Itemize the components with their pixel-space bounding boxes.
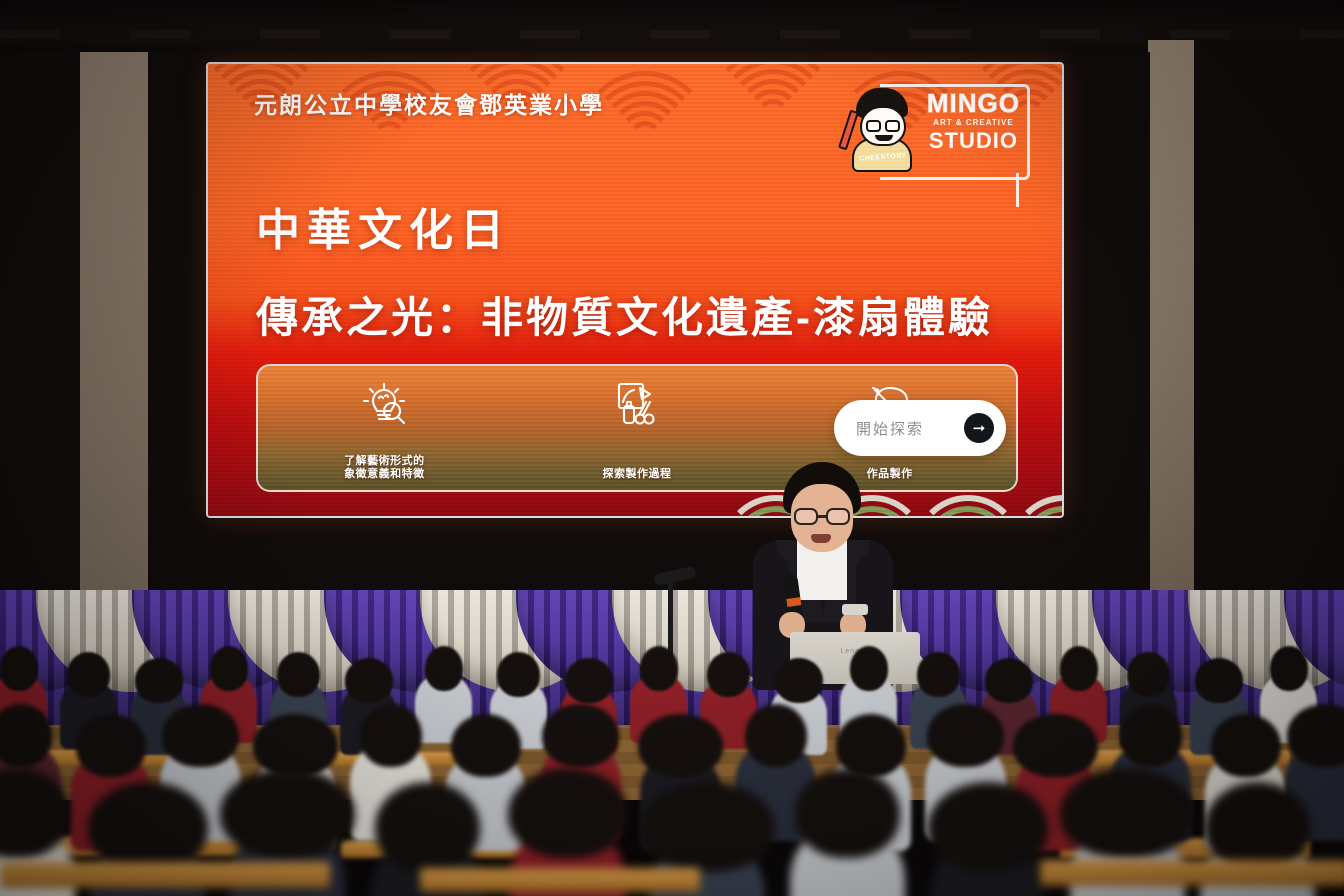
step-item-2[interactable]: 探索製作過程	[511, 366, 764, 490]
arrow-right-circle-icon: ➞	[964, 413, 994, 443]
lightbulb-magnifier-icon	[357, 378, 411, 432]
auditorium-scene: 元朗公立中學校友會鄧英業小學 MINGO ART & CREATIVE STUD…	[0, 0, 1344, 896]
slide-title-main: 中華文化日	[256, 194, 511, 258]
lighting-rig	[0, 0, 1344, 52]
slide-title-sub: 傳承之光：非物質文化遺產-漆扇體驗	[256, 284, 993, 345]
craft-tools-icon	[610, 378, 664, 432]
stage-wing-panel-left	[78, 52, 148, 652]
stage-edge-left	[0, 52, 80, 652]
presenter-face	[791, 484, 853, 552]
studio-logo: MINGO ART & CREATIVE STUDIO CHEESTORY	[838, 78, 1038, 186]
eyeglasses-icon	[794, 508, 818, 525]
step-caption-1: 了解藝術形式的象徵意義和特徵	[258, 455, 511, 483]
student-desk	[420, 868, 700, 892]
logo-studio: STUDIO	[927, 130, 1020, 152]
projection-screen: 元朗公立中學校友會鄧英業小學 MINGO ART & CREATIVE STUD…	[206, 62, 1064, 518]
audience-area	[0, 600, 1344, 896]
logo-tagline: ART & CREATIVE	[927, 119, 1020, 127]
mascot-boy-with-pencil-icon: CHEESTORY	[844, 88, 922, 174]
step-caption-2: 探索製作過程	[511, 468, 764, 482]
step-item-1[interactable]: 了解藝術形式的象徵意義和特徵	[258, 366, 511, 490]
slide-school-name: 元朗公立中學校友會鄧英業小學	[254, 86, 604, 120]
start-explore-label: 開始探索	[856, 418, 924, 439]
stage-edge-right	[1194, 40, 1344, 660]
student-desk	[1040, 860, 1344, 886]
start-explore-button[interactable]: 開始探索 ➞	[834, 400, 1006, 456]
stage-wing-dark-left	[148, 52, 210, 652]
student-desk	[0, 862, 330, 888]
presentation-slide: 元朗公立中學校友會鄧英業小學 MINGO ART & CREATIVE STUD…	[208, 64, 1062, 516]
logo-name: MINGO	[927, 90, 1020, 116]
stage-wing-panel-right	[1148, 40, 1194, 660]
stage-wing-dark-right	[1060, 52, 1150, 652]
